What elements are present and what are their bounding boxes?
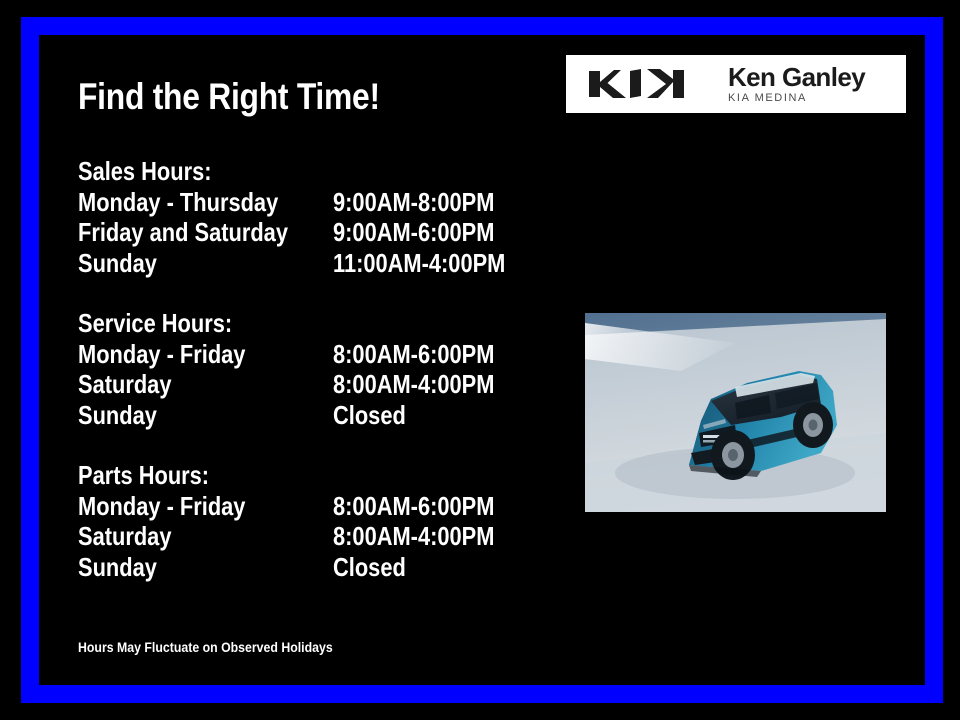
dealer-subtitle: KIA MEDINA: [728, 93, 865, 104]
hours-row-value: 8:00AM-4:00PM: [333, 369, 494, 400]
kia-logo-icon: [580, 67, 710, 101]
hours-row-label: Saturday: [78, 521, 292, 552]
hours-row-value: 8:00AM-6:00PM: [333, 491, 494, 522]
hours-row: Sunday 11:00AM-4:00PM: [78, 248, 548, 279]
hours-section-sales: Sales Hours: Monday - Thursday 9:00AM-8:…: [78, 156, 548, 278]
hours-row-value: 8:00AM-6:00PM: [333, 339, 494, 370]
hours-row: Saturday 8:00AM-4:00PM: [78, 369, 548, 400]
hours-row-value: 8:00AM-4:00PM: [333, 521, 494, 552]
hours-row-label: Monday - Friday: [78, 491, 292, 522]
hours-row-value: 9:00AM-6:00PM: [333, 217, 494, 248]
hours-list: Sales Hours: Monday - Thursday 9:00AM-8:…: [78, 156, 548, 582]
hours-section-parts: Parts Hours: Monday - Friday 8:00AM-6:00…: [78, 460, 548, 582]
hours-row-label: Sunday: [78, 248, 292, 279]
hours-row-value: Closed: [333, 400, 406, 431]
hours-row-label: Friday and Saturday: [78, 217, 292, 248]
dealer-name: Ken Ganley: [728, 64, 865, 90]
hours-row: Monday - Friday 8:00AM-6:00PM: [78, 491, 548, 522]
hours-section-service: Service Hours: Monday - Friday 8:00AM-6:…: [78, 308, 548, 430]
hours-row-value: Closed: [333, 552, 406, 583]
slide-canvas: Find the Right Time! Ken Ganley KIA MEDI…: [0, 0, 960, 720]
hours-row-label: Saturday: [78, 369, 292, 400]
hours-row: Sunday Closed: [78, 400, 548, 431]
hours-row-label: Sunday: [78, 400, 292, 431]
section-heading: Parts Hours:: [78, 460, 473, 491]
hours-row: Saturday 8:00AM-4:00PM: [78, 521, 548, 552]
page-title: Find the Right Time!: [78, 78, 380, 117]
dealer-name-group: Ken Ganley KIA MEDINA: [728, 64, 865, 104]
footer-note: Hours May Fluctuate on Observed Holidays: [78, 639, 333, 655]
vehicle-photo: [585, 313, 886, 512]
hours-row-label: Monday - Friday: [78, 339, 292, 370]
dealer-logo: Ken Ganley KIA MEDINA: [566, 55, 906, 113]
hours-row: Monday - Thursday 9:00AM-8:00PM: [78, 187, 548, 218]
hours-row-value: 9:00AM-8:00PM: [333, 187, 494, 218]
hours-row: Sunday Closed: [78, 552, 548, 583]
section-heading: Sales Hours:: [78, 156, 473, 187]
hours-row-label: Sunday: [78, 552, 292, 583]
hours-row-value: 11:00AM-4:00PM: [333, 248, 505, 279]
hours-row: Friday and Saturday 9:00AM-6:00PM: [78, 217, 548, 248]
hours-row-label: Monday - Thursday: [78, 187, 292, 218]
hours-row: Monday - Friday 8:00AM-6:00PM: [78, 339, 548, 370]
section-heading: Service Hours:: [78, 308, 473, 339]
